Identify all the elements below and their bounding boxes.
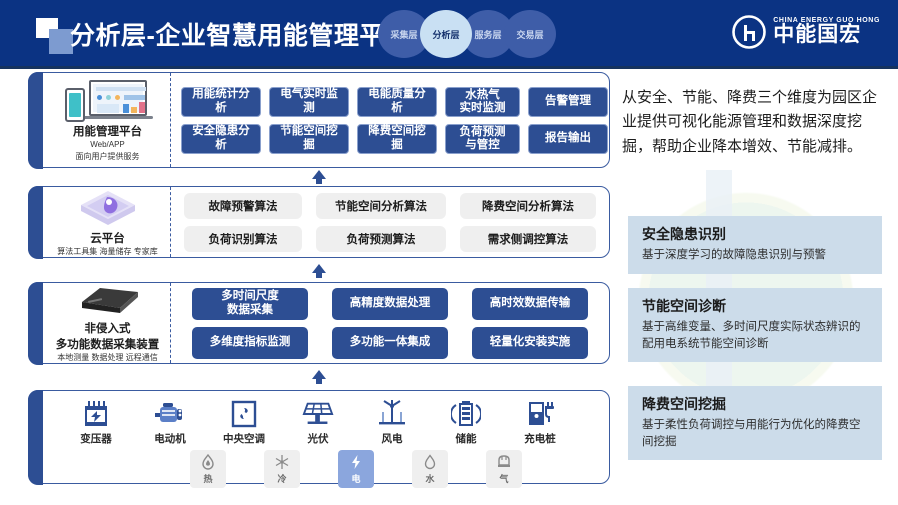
asset-ev-charger[interactable]: 充电桩 (503, 399, 577, 446)
flow-arrow-up-3 (312, 370, 326, 379)
panel-device-sub2: 本地测量 数据处理 远程通信 (57, 353, 157, 363)
info-card-desc: 基于柔性负荷调控与用能行为优化的降费空间挖掘 (642, 417, 870, 450)
energy-box: 气 (486, 450, 522, 488)
panel-platform-sub1: Web/APP (90, 140, 125, 150)
info-card-title: 节能空间诊断 (642, 296, 870, 316)
ev-charger-icon (524, 399, 556, 429)
electricity-bolt-icon (347, 453, 365, 471)
chip-load-forecast-control[interactable]: 负荷预测与管控 (445, 124, 520, 154)
chip-high-speed-transmission[interactable]: 高时效数据传输 (472, 288, 588, 320)
chip-report-output[interactable]: 报告输出 (528, 124, 608, 154)
panel-accent-bar (28, 390, 43, 485)
info-card-energy-saving: 节能空间诊断 基于高维变量、多时间尺度实际状态辨识的配用电系统节能空间诊断 (628, 288, 882, 362)
chip-load-forecast-algorithm[interactable]: 负荷预测算法 (316, 226, 446, 252)
page-title: 分析层-企业智慧用能管理平台 (70, 16, 410, 52)
chip-multidimensional-monitoring[interactable]: 多维度指标监测 (192, 327, 308, 359)
chip-lightweight-installation[interactable]: 轻量化安装实施 (472, 327, 588, 359)
energy-water[interactable]: 水 (393, 450, 467, 488)
panel-device-title: 非侵入式 (85, 322, 131, 336)
pill-analysis-layer[interactable]: 分析层 (420, 10, 472, 58)
asset-label: 储能 (456, 431, 477, 446)
wind-turbine-icon (376, 399, 408, 429)
chip-demand-side-control-algorithm[interactable]: 需求侧调控算法 (460, 226, 596, 252)
energy-box-active: 电 (338, 450, 374, 488)
info-card-title: 安全隐患识别 (642, 224, 870, 244)
data-acquisition-device-icon (70, 282, 146, 321)
device-capability-row-1: 多时间尺度数据采集 高精度数据处理 高时效数据传输 (181, 288, 599, 320)
brand-name-cn: 中能国宏 (773, 24, 880, 46)
brand-text: CHINA ENERGY GUO HONG 中能国宏 (773, 17, 880, 46)
asset-device-row: 变压器 电动机 (59, 399, 595, 446)
panel-device-capabilities: 多时间尺度数据采集 高精度数据处理 高时效数据传输 多维度指标监测 多功能一体集… (171, 283, 609, 363)
heat-flame-icon (199, 453, 217, 471)
energy-box: 热 (190, 450, 226, 488)
panel-cloud-identity: 云平台 算法工具集 海量储存 专家库 (45, 187, 171, 257)
asset-transformer[interactable]: 变压器 (59, 399, 133, 446)
header-divider (0, 66, 898, 69)
chip-safety-hazard-analysis[interactable]: 安全隐患分析 (181, 124, 261, 154)
chip-cost-reduction-analysis-algorithm[interactable]: 降费空间分析算法 (460, 193, 596, 219)
solar-panel-icon (302, 399, 334, 429)
asset-label: 充电桩 (524, 431, 556, 446)
asset-central-ac[interactable]: 中央空调 (207, 399, 281, 446)
asset-label: 变压器 (80, 431, 112, 446)
water-drop-icon (421, 453, 439, 471)
chip-label-line: 水热气实时监测 (460, 89, 506, 114)
pill-trade-layer[interactable]: 交易层 (504, 10, 556, 58)
energy-label: 冷 (277, 472, 286, 485)
panel-cloud-algorithms: 故障预警算法 节能空间分析算法 降费空间分析算法 负荷识别算法 负荷预测算法 需… (171, 187, 609, 257)
panel-device-sub1: 多功能数据采集装置 (56, 338, 160, 352)
flow-arrow-up-1 (312, 170, 326, 179)
energy-type-row: 热 冷 (59, 450, 595, 488)
energy-box: 水 (412, 450, 448, 488)
platform-feature-row-1: 用能统计分析 电气实时监测 电能质量分析 水热气实时监测 告警管理 (181, 87, 608, 117)
energy-gas[interactable]: 气 (467, 450, 541, 488)
info-card-desc: 基于高维变量、多时间尺度实际状态辨识的配用电系统节能空间诊断 (642, 319, 870, 352)
info-card-cost-reduction: 降费空间挖掘 基于柔性负荷调控与用能行为优化的降费空间挖掘 (628, 386, 882, 460)
overview-paragraph: 从安全、节能、降费三个维度为园区企业提供可视化能源管理和数据深度挖掘，帮助企业降… (622, 86, 884, 159)
chip-fault-warning-algorithm[interactable]: 故障预警算法 (184, 193, 302, 219)
motor-icon (154, 399, 186, 429)
chip-multifunction-integration[interactable]: 多功能一体集成 (332, 327, 448, 359)
asset-motor[interactable]: 电动机 (133, 399, 207, 446)
energy-label: 热 (203, 472, 212, 485)
chip-electrical-realtime-monitoring[interactable]: 电气实时监测 (269, 87, 349, 117)
chip-load-identification-algorithm[interactable]: 负荷识别算法 (184, 226, 302, 252)
panel-platform-title: 用能管理平台 (73, 125, 142, 139)
platform-feature-row-2: 安全隐患分析 节能空间挖掘 降费空间挖掘 负荷预测与管控 报告输出 (181, 124, 608, 154)
gas-icon (495, 453, 513, 471)
device-capability-row-2: 多维度指标监测 多功能一体集成 轻量化安装实施 (181, 327, 599, 359)
chip-energy-saving-analysis-algorithm[interactable]: 节能空间分析算法 (316, 193, 446, 219)
chip-alarm-management[interactable]: 告警管理 (528, 87, 608, 117)
panel-platform: 用能管理平台 Web/APP 面向用户提供服务 用能统计分析 电气实时监测 电能… (28, 72, 610, 168)
panel-cloud: 云平台 算法工具集 海量储存 专家库 故障预警算法 节能空间分析算法 降费空间分… (28, 186, 610, 258)
flow-arrow-up-2 (312, 264, 326, 273)
asset-storage[interactable]: 储能 (429, 399, 503, 446)
panel-accent-bar (28, 72, 43, 169)
cloud-algorithm-row-1: 故障预警算法 节能空间分析算法 降费空间分析算法 (181, 193, 599, 219)
central-air-conditioner-icon (228, 399, 260, 429)
panel-assets: 变压器 电动机 (28, 390, 610, 484)
chip-energy-saving-mining[interactable]: 节能空间挖掘 (269, 124, 349, 154)
slide-root: 分析层-企业智慧用能管理平台 采集层 服务层 交易层 分析层 CHINA ENE… (0, 0, 898, 505)
asset-wind[interactable]: 风电 (355, 399, 429, 446)
energy-label: 水 (425, 472, 434, 485)
chip-high-precision-processing[interactable]: 高精度数据处理 (332, 288, 448, 320)
panel-platform-sub2: 面向用户提供服务 (76, 152, 140, 162)
energy-heat[interactable]: 热 (171, 450, 245, 488)
header-bar: 分析层-企业智慧用能管理平台 采集层 服务层 交易层 分析层 CHINA ENE… (0, 0, 898, 66)
panel-cloud-sub1: 算法工具集 海量储存 专家库 (57, 247, 157, 257)
panel-device: 非侵入式 多功能数据采集装置 本地测量 数据处理 远程通信 多时间尺度数据采集 … (28, 282, 610, 364)
panel-platform-identity: 用能管理平台 Web/APP 面向用户提供服务 (45, 73, 171, 167)
panel-cloud-title: 云平台 (90, 232, 125, 246)
chip-label-line: 多时间尺度数据采集 (221, 290, 279, 316)
cloud-platform-icon (77, 187, 139, 231)
asset-label: 电动机 (154, 431, 186, 446)
panel-accent-bar (28, 282, 43, 365)
asset-label: 风电 (382, 431, 403, 446)
company-brand: CHINA ENERGY GUO HONG 中能国宏 (731, 14, 880, 50)
energy-label: 电 (351, 472, 360, 485)
panel-accent-bar (28, 186, 43, 259)
info-card-desc: 基于深度学习的故障隐患识别与预警 (642, 247, 870, 264)
chip-energy-statistics[interactable]: 用能统计分析 (181, 87, 261, 117)
panel-platform-features: 用能统计分析 电气实时监测 电能质量分析 水热气实时监测 告警管理 安全隐患分析… (171, 73, 618, 167)
cold-snowflake-icon (273, 453, 291, 471)
info-card-title: 降费空间挖掘 (642, 394, 870, 414)
asset-label: 光伏 (308, 431, 329, 446)
chip-water-heat-gas-monitoring[interactable]: 水热气实时监测 (445, 87, 520, 117)
energy-label: 气 (499, 472, 508, 485)
brand-logo-icon (731, 14, 767, 50)
chip-multi-timescale-acquisition[interactable]: 多时间尺度数据采集 (192, 288, 308, 320)
chip-label-line: 负荷预测与管控 (460, 126, 506, 151)
asset-solar[interactable]: 光伏 (281, 399, 355, 446)
laptop-phone-dashboard-icon (65, 78, 151, 124)
panel-device-identity: 非侵入式 多功能数据采集装置 本地测量 数据处理 远程通信 (45, 283, 171, 363)
asset-label: 中央空调 (223, 431, 265, 446)
info-card-safety: 安全隐患识别 基于深度学习的故障隐患识别与预警 (628, 216, 882, 274)
cloud-algorithm-row-2: 负荷识别算法 负荷预测算法 需求侧调控算法 (181, 226, 599, 252)
energy-cold[interactable]: 冷 (245, 450, 319, 488)
transformer-icon (80, 399, 112, 429)
chip-power-quality-analysis[interactable]: 电能质量分析 (357, 87, 437, 117)
energy-electricity[interactable]: 电 (319, 450, 393, 488)
chip-cost-reduction-mining[interactable]: 降费空间挖掘 (357, 124, 437, 154)
battery-storage-icon (450, 399, 482, 429)
energy-box: 冷 (264, 450, 300, 488)
